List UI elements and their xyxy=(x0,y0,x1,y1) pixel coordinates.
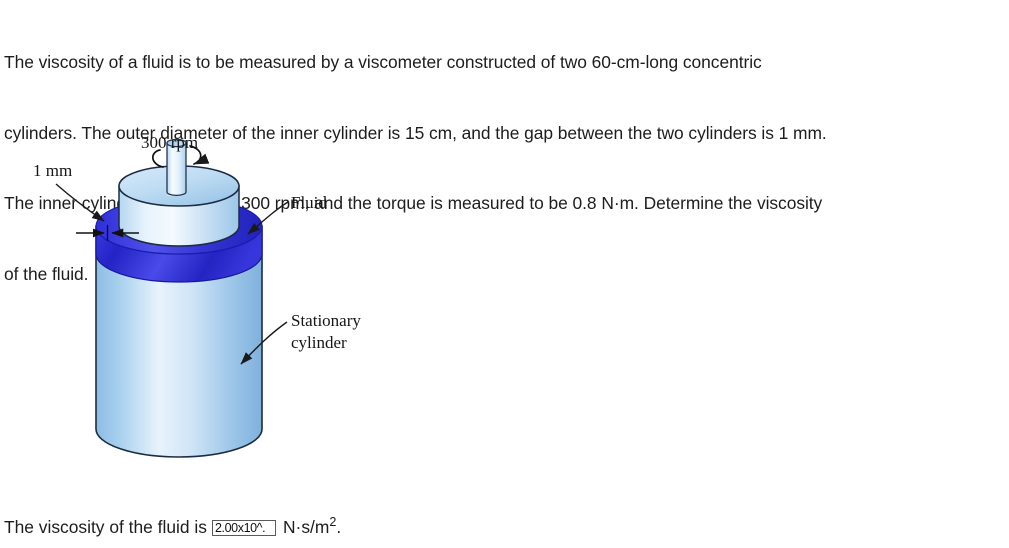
label-rpm-text: 300 rpm xyxy=(141,133,198,152)
answer-line: The viscosity of the fluid is N·s/m2. xyxy=(4,516,341,538)
label-stationary-line2: cylinder xyxy=(291,333,347,352)
answer-prefix-label: The viscosity of the fluid is xyxy=(4,516,207,538)
label-stationary-line1: Stationary xyxy=(291,311,361,330)
answer-unit-main: N·s/m xyxy=(283,517,329,537)
label-gap-text: 1 mm xyxy=(33,161,72,180)
label-fluid-text: Fluid xyxy=(291,193,327,212)
label-rpm: 300 rpm xyxy=(141,133,198,152)
viscosity-answer-input[interactable] xyxy=(212,520,276,536)
answer-unit-suffix: . xyxy=(336,517,341,537)
viscometer-diagram: 300 rpm 1 mm Fluid Stationary cylinder xyxy=(0,126,430,498)
problem-line-1: The viscosity of a fluid is to be measur… xyxy=(4,51,1009,75)
answer-unit: N·s/m2. xyxy=(283,516,341,538)
